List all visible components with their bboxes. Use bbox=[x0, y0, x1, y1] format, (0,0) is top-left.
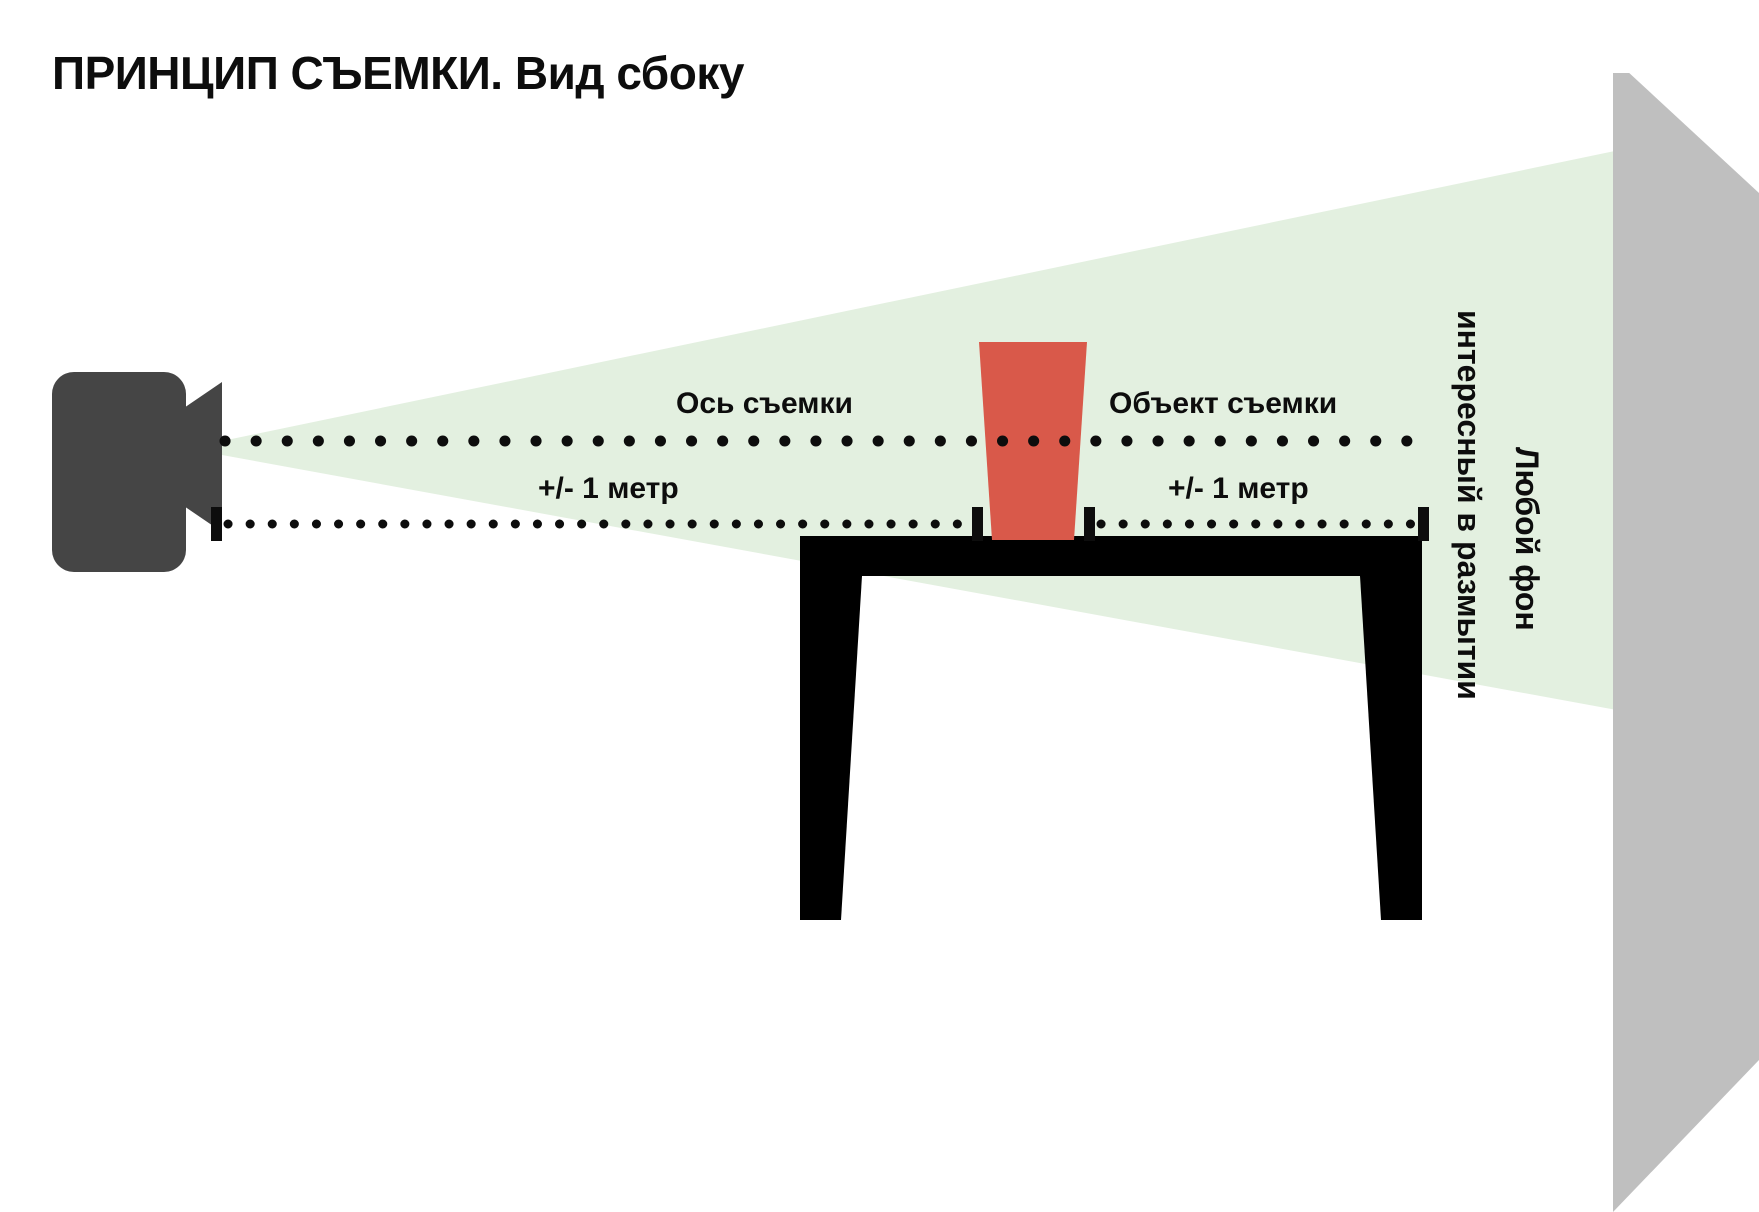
label-shooting-object: Объект съемки bbox=[1109, 387, 1337, 421]
diagram-canvas: ПРИНЦИП СЪЕМКИ. Вид сбоку bbox=[0, 0, 1759, 1212]
label-distance-right: +/- 1 метр bbox=[1168, 472, 1309, 506]
label-background-line1: интересный в размытии bbox=[1450, 310, 1487, 700]
diagram-scene bbox=[0, 0, 1759, 1212]
video-camera-icon[interactable] bbox=[52, 372, 222, 572]
label-distance-left: +/- 1 метр bbox=[538, 472, 679, 506]
background-wall-icon bbox=[1613, 73, 1759, 1212]
label-shooting-axis: Ось съемки bbox=[676, 387, 853, 421]
label-background-line2: Любой фон bbox=[1508, 447, 1545, 631]
